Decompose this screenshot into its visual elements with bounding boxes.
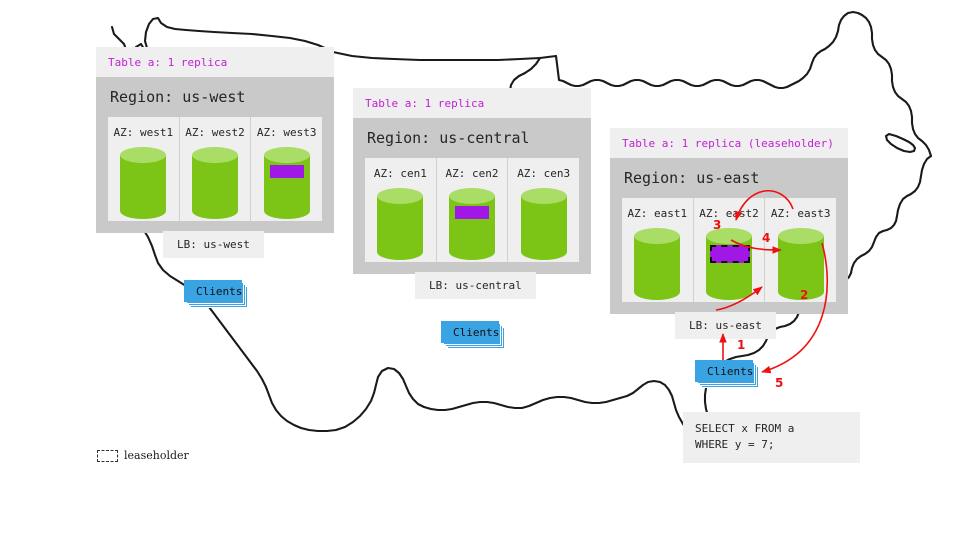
cylinder-body bbox=[264, 155, 310, 211]
region-panel-us-east: Table a: 1 replica (leaseholder) Region:… bbox=[610, 128, 848, 314]
clients-label-us-west[interactable]: Clients bbox=[184, 280, 242, 302]
az-east2[interactable]: AZ: east2 bbox=[694, 198, 766, 302]
region-body-us-east: Region: us-east AZ: east1 AZ: east2 bbox=[610, 158, 848, 314]
cylinder-top bbox=[192, 147, 238, 163]
region-title-us-central: Region: us-central bbox=[365, 118, 579, 158]
replica-marker-cen2[interactable] bbox=[455, 206, 489, 219]
diagram-canvas: Table a: 1 replica Region: us-west AZ: w… bbox=[0, 0, 960, 540]
leaseholder-swatch-icon bbox=[97, 450, 118, 462]
az-row-us-central: AZ: cen1 AZ: cen2 bbox=[365, 158, 579, 262]
cylinder-top bbox=[264, 147, 310, 163]
az-west2[interactable]: AZ: west2 bbox=[180, 117, 252, 221]
region-header-us-central: Table a: 1 replica bbox=[353, 88, 591, 118]
az-west3[interactable]: AZ: west3 bbox=[251, 117, 322, 221]
node-cylinder-east1[interactable] bbox=[634, 228, 680, 300]
legend-label: leaseholder bbox=[124, 449, 189, 462]
cylinder-top bbox=[120, 147, 166, 163]
legend: leaseholder bbox=[97, 449, 189, 462]
az-cen3[interactable]: AZ: cen3 bbox=[508, 158, 579, 262]
node-cylinder-west3[interactable] bbox=[264, 147, 310, 219]
cylinder-top bbox=[778, 228, 824, 244]
load-balancer-us-central[interactable]: LB: us-central bbox=[415, 272, 536, 299]
replica-marker-east2-leaseholder[interactable] bbox=[710, 245, 750, 263]
az-label-west2: AZ: west2 bbox=[180, 126, 251, 139]
clients-us-east[interactable]: Clients bbox=[695, 360, 753, 382]
node-cylinder-cen1[interactable] bbox=[377, 188, 423, 260]
clients-label-us-central[interactable]: Clients bbox=[441, 321, 499, 343]
flow-step-4-number: 4 bbox=[762, 231, 770, 245]
flow-step-3-number: 3 bbox=[713, 218, 721, 232]
cylinder-top bbox=[634, 228, 680, 244]
cylinder-body bbox=[192, 155, 238, 211]
region-header-us-west: Table a: 1 replica bbox=[96, 47, 334, 77]
flow-step-2-number: 2 bbox=[800, 288, 808, 302]
node-cylinder-cen3[interactable] bbox=[521, 188, 567, 260]
flow-step-1-number: 1 bbox=[737, 338, 745, 352]
region-panel-us-central: Table a: 1 replica Region: us-central AZ… bbox=[353, 88, 591, 274]
cylinder-body bbox=[778, 236, 824, 292]
az-east1[interactable]: AZ: east1 bbox=[622, 198, 694, 302]
load-balancer-us-west[interactable]: LB: us-west bbox=[163, 231, 264, 258]
sql-query-panel: SELECT x FROM a WHERE y = 7; bbox=[683, 412, 860, 463]
cylinder-top bbox=[521, 188, 567, 204]
node-cylinder-west1[interactable] bbox=[120, 147, 166, 219]
region-body-us-central: Region: us-central AZ: cen1 AZ: cen2 bbox=[353, 118, 591, 274]
az-label-east2: AZ: east2 bbox=[694, 207, 765, 220]
cylinder-body bbox=[120, 155, 166, 211]
az-row-us-east: AZ: east1 AZ: east2 bbox=[622, 198, 836, 302]
az-label-cen2: AZ: cen2 bbox=[437, 167, 508, 180]
az-label-cen3: AZ: cen3 bbox=[508, 167, 579, 180]
cylinder-top bbox=[377, 188, 423, 204]
cylinder-body bbox=[634, 236, 680, 292]
az-cen1[interactable]: AZ: cen1 bbox=[365, 158, 437, 262]
az-label-east3: AZ: east3 bbox=[765, 207, 836, 220]
load-balancer-us-east[interactable]: LB: us-east bbox=[675, 312, 776, 339]
clients-label-us-east[interactable]: Clients bbox=[695, 360, 753, 382]
az-cen2[interactable]: AZ: cen2 bbox=[437, 158, 509, 262]
az-label-cen1: AZ: cen1 bbox=[365, 167, 436, 180]
clients-us-central[interactable]: Clients bbox=[441, 321, 499, 343]
region-body-us-west: Region: us-west AZ: west1 AZ: west2 bbox=[96, 77, 334, 233]
region-title-us-east: Region: us-east bbox=[622, 158, 836, 198]
replica-marker-west3[interactable] bbox=[270, 165, 304, 178]
cylinder-body bbox=[377, 196, 423, 252]
region-panel-us-west: Table a: 1 replica Region: us-west AZ: w… bbox=[96, 47, 334, 233]
clients-us-west[interactable]: Clients bbox=[184, 280, 242, 302]
az-east3[interactable]: AZ: east3 bbox=[765, 198, 836, 302]
node-cylinder-east2[interactable] bbox=[706, 228, 752, 300]
node-cylinder-cen2[interactable] bbox=[449, 188, 495, 260]
az-label-west1: AZ: west1 bbox=[108, 126, 179, 139]
cylinder-body bbox=[521, 196, 567, 252]
az-label-west3: AZ: west3 bbox=[251, 126, 322, 139]
region-header-us-east: Table a: 1 replica (leaseholder) bbox=[610, 128, 848, 158]
az-row-us-west: AZ: west1 AZ: west2 AZ bbox=[108, 117, 322, 221]
node-cylinder-west2[interactable] bbox=[192, 147, 238, 219]
flow-step-5-number: 5 bbox=[775, 376, 783, 390]
az-label-east1: AZ: east1 bbox=[622, 207, 693, 220]
az-west1[interactable]: AZ: west1 bbox=[108, 117, 180, 221]
cylinder-top bbox=[449, 188, 495, 204]
cylinder-body bbox=[449, 196, 495, 252]
region-title-us-west: Region: us-west bbox=[108, 77, 322, 117]
